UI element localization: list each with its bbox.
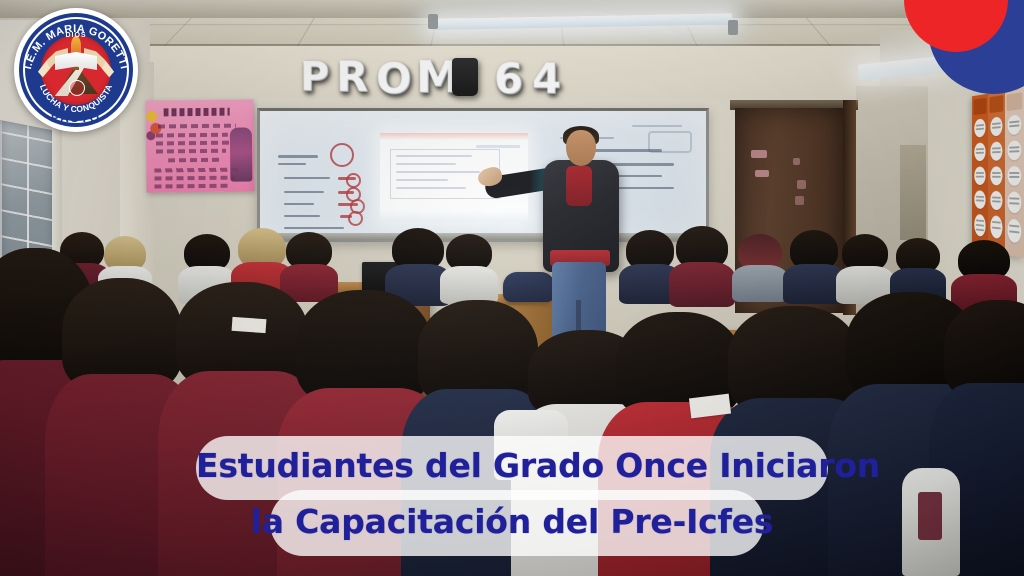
student — [790, 230, 838, 300]
logo-dios-text: DIOS — [14, 32, 138, 39]
ceiling-beam — [0, 0, 1024, 18]
poster-word-bubble — [990, 191, 1002, 211]
student — [446, 234, 492, 300]
poster-row — [154, 176, 234, 181]
caption-line-1: Estudiantes del Grado Once Iniciaron — [196, 446, 828, 485]
student — [738, 234, 782, 298]
tube-cap-right — [728, 20, 738, 35]
backpack-on-podium — [503, 272, 555, 302]
poster-girl-figure — [230, 127, 253, 181]
poster-column-header — [990, 95, 1004, 113]
poster-horario — [146, 99, 255, 192]
poster-row — [156, 149, 226, 154]
student — [842, 234, 888, 300]
poster-column-header — [974, 98, 987, 115]
wall-speaker — [452, 58, 478, 96]
banner-image: P R O M 6 4 — [0, 0, 1024, 576]
logo-inner-seal — [69, 80, 85, 96]
poster-word-bubble — [990, 166, 1002, 185]
caption-banner: Estudiantes del Grado Once Iniciaron la … — [196, 436, 828, 558]
student — [626, 230, 674, 300]
teacher-shirt — [566, 166, 592, 206]
school-logo: I.E.M. MARIA GORETTI DIOS LUCHA Y CONQUI… — [14, 8, 138, 132]
poster-row — [168, 158, 222, 163]
poster-word-bubble — [974, 190, 985, 209]
poster-word-bubble — [990, 215, 1002, 239]
balloon-letter-r: R — [336, 52, 369, 101]
door-sticker-3 — [793, 158, 800, 165]
poster-horario-title — [164, 108, 230, 117]
poster-row — [154, 168, 238, 173]
jersey-number — [918, 492, 942, 540]
poster-row — [156, 141, 232, 146]
poster-word-bubble — [1007, 166, 1021, 186]
poster-row — [156, 133, 228, 138]
caption-line-2: la Capacitación del Pre-Icfes — [196, 502, 828, 541]
student — [896, 238, 940, 300]
balloon-digit-4: 4 — [532, 54, 562, 103]
teacher-head — [566, 130, 596, 166]
poster-row — [154, 184, 228, 189]
door-sticker-5 — [795, 196, 804, 205]
tube-cap-left — [428, 14, 438, 29]
door-sticker-1 — [751, 150, 767, 158]
balloon-letter-p: P — [300, 54, 330, 100]
balloon-digit-6: 6 — [494, 54, 524, 103]
poster-column-header — [1007, 92, 1023, 111]
door-sticker-4 — [797, 180, 806, 189]
poster-word-bubble — [974, 214, 985, 237]
logo-city-text: PASTO — [14, 111, 138, 125]
door-sticker-2 — [755, 170, 769, 177]
poster-word-wall — [972, 88, 1024, 258]
poster-word-bubble — [1007, 191, 1021, 213]
balloon-letter-o: O — [376, 54, 413, 103]
poster-word-bubble — [974, 167, 985, 186]
hallway-far-door — [900, 145, 926, 240]
poster-row — [158, 124, 236, 129]
notebook — [232, 317, 267, 333]
student — [676, 226, 728, 302]
